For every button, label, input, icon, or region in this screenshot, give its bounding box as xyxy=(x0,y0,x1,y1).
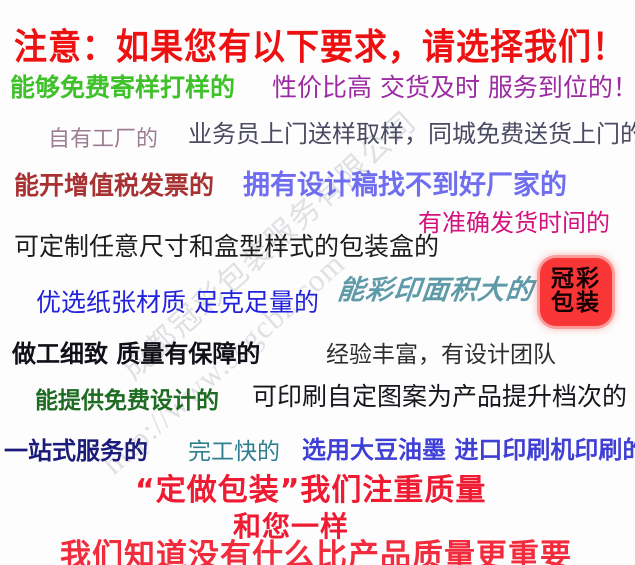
feature-soy-ink-imported-press: 选用大豆油墨 进口印刷机印刷的 xyxy=(302,430,635,465)
feature-one-stop-service: 一站式服务的 xyxy=(4,431,148,466)
closing-line-1: “定做包装”我们注重质量 xyxy=(135,465,486,509)
feature-salesman-door-to-door: 业务员上门送样取样，同城免费送货上门的 xyxy=(188,114,635,149)
feature-custom-size-boxtype: 可定制任意尺寸和盒型样式的包装盒的 xyxy=(14,227,439,263)
promo-poster: 成都冠彩包装服务有限公司 http://www.scgcbz.com 注意：如果… xyxy=(0,0,635,565)
feature-has-design-no-factory: 拥有设计稿找不到好厂家的 xyxy=(243,163,567,202)
brand-stamp-line-2: 包装 xyxy=(551,292,601,316)
feature-accurate-shipping-time: 有准确发货时间的 xyxy=(418,203,610,238)
calligraphy-tagline: 能彩印面积大的 xyxy=(336,268,536,307)
feature-custom-pattern-upgrade: 可印刷自定图案为产品提升档次的 xyxy=(252,377,627,413)
closing-line-3: 我们知道没有什么比产品质量更重要 xyxy=(60,530,572,565)
poster-headline: 注意：如果您有以下要求，请选择我们！ xyxy=(14,18,626,70)
feature-own-factory: 自有工厂的 xyxy=(48,121,158,153)
brand-stamp-badge: 冠彩 包装 xyxy=(540,258,612,326)
feature-vat-invoice: 能开增值税发票的 xyxy=(14,166,214,202)
feature-experienced-design-team: 经验丰富，有设计团队 xyxy=(326,335,556,369)
feature-quality-paper-full-weight: 优选纸张材质 足克足量的 xyxy=(36,283,319,319)
feature-fine-workmanship-quality: 做工细致 质量有保障的 xyxy=(12,334,260,369)
feature-fast-completion: 完工快的 xyxy=(188,432,280,466)
feature-free-sample: 能够免费寄样打样的 xyxy=(10,68,235,104)
feature-free-design: 能提供免费设计的 xyxy=(35,381,219,415)
feature-value-delivery-service: 性价比高 交货及时 服务到位的！ xyxy=(272,68,635,104)
brand-stamp-line-1: 冠彩 xyxy=(551,268,601,292)
